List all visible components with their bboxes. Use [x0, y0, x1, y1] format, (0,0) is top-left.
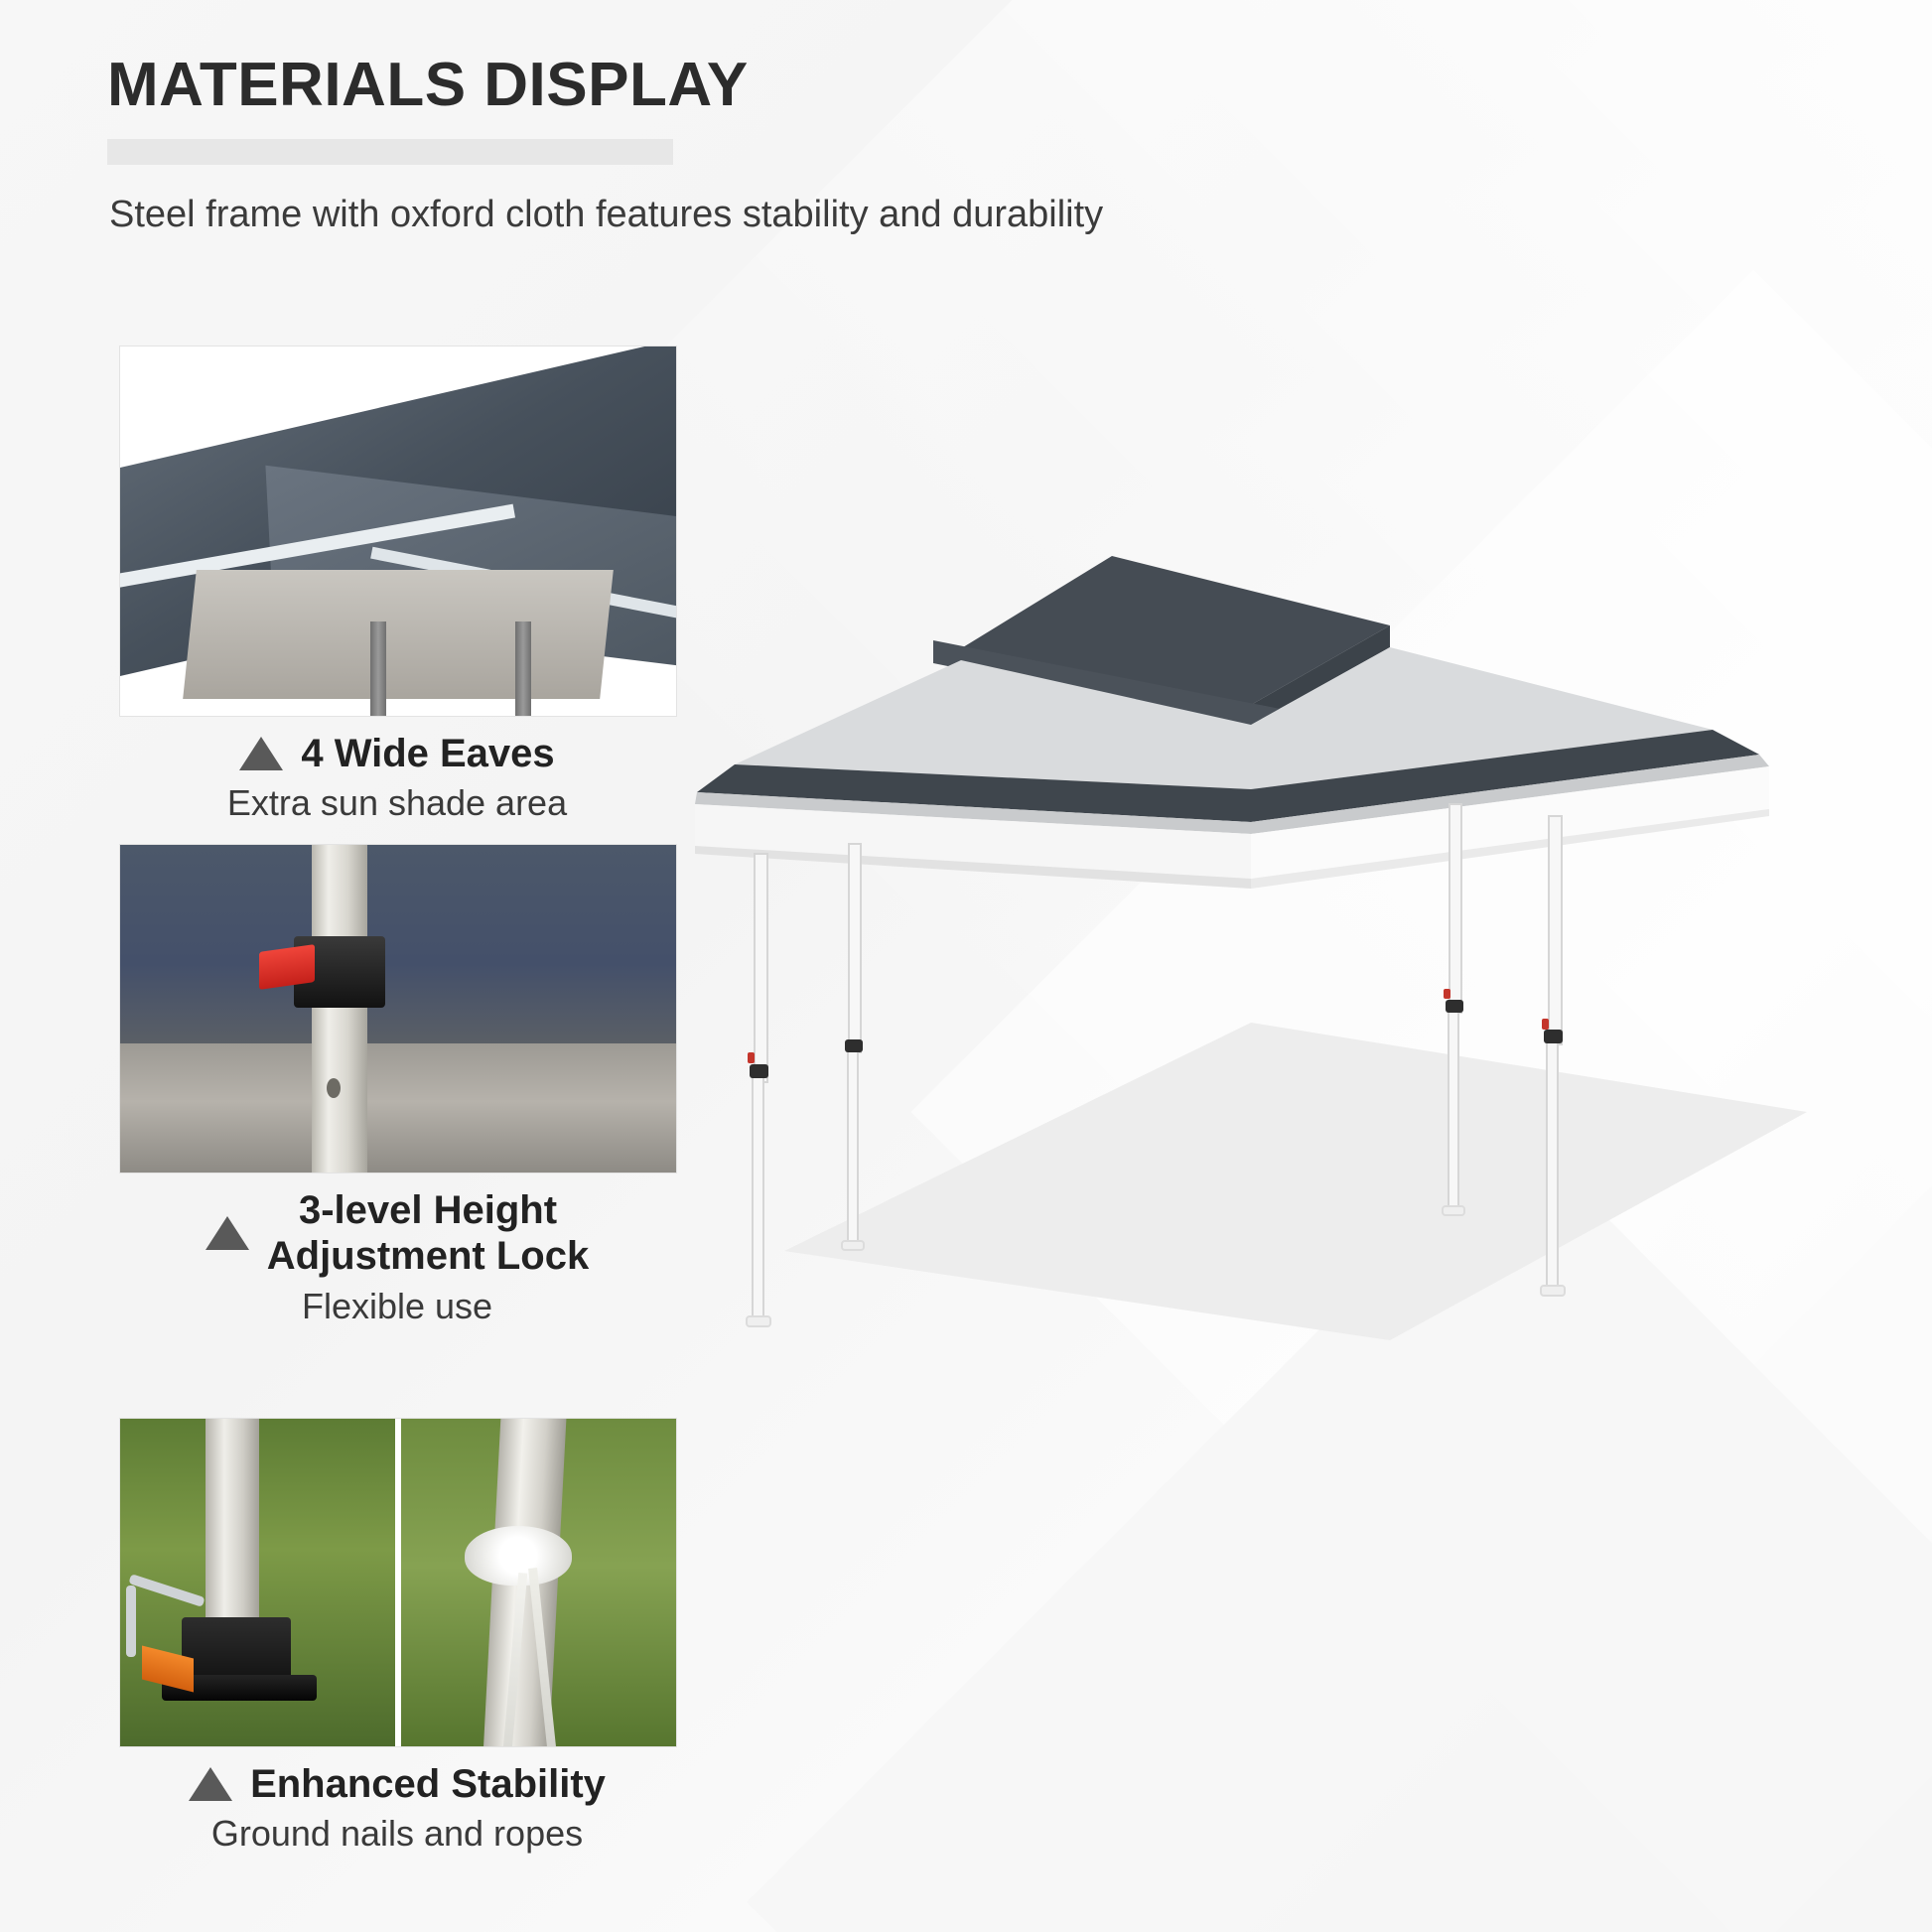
leg-front-right [1549, 816, 1562, 1044]
feature-title-height-lock: 3-level Height Adjustment Lock [267, 1187, 589, 1280]
page-title: MATERIALS DISPLAY [107, 50, 749, 120]
foot-back-right [1443, 1206, 1464, 1215]
feature-image-height-lock [119, 844, 677, 1173]
lock-button-front-right [1542, 1019, 1549, 1030]
leg-back-left [849, 844, 861, 1052]
triangle-marker-icon [239, 737, 283, 770]
caption-row-enhanced-stability: Enhanced Stability [119, 1761, 675, 1807]
feature-image-enhanced-stability [119, 1418, 677, 1747]
feature-title-enhanced-stability: Enhanced Stability [250, 1761, 606, 1807]
feature-description-enhanced-stability: Ground nails and ropes [119, 1813, 675, 1855]
canopy-underside [183, 570, 614, 699]
stability-photo-left [120, 1419, 395, 1746]
collar-front-right [1544, 1030, 1563, 1043]
collar-back-right [1446, 1000, 1463, 1013]
lock-button-back-right [1444, 989, 1450, 999]
foot-back-left [842, 1241, 864, 1250]
ground-nail-shaft [126, 1586, 136, 1657]
foot-front-right [1541, 1286, 1565, 1296]
feature-title-line2: Adjustment Lock [267, 1233, 589, 1279]
lock-button-front-left [748, 1052, 755, 1063]
photo-background-ground [120, 1043, 676, 1173]
leg-back-right [1449, 804, 1461, 1013]
feature-title-wide-eaves: 4 Wide Eaves [301, 731, 554, 776]
canopy-leg-left [370, 621, 386, 716]
feature-description-height-lock: Flexible use [119, 1286, 675, 1327]
triangle-marker-icon [189, 1767, 232, 1801]
pole-adjustment-hole [327, 1078, 341, 1098]
leg-back-right-lower [1449, 1008, 1458, 1211]
foot-front-left [747, 1316, 770, 1326]
leg-front-left-lower [753, 1072, 763, 1320]
photo-background-wall [120, 845, 676, 1043]
leg-back-left-lower [848, 1047, 858, 1246]
caption-row-height-lock: 3-level Height Adjustment Lock [119, 1187, 675, 1280]
collar-back-left [845, 1039, 863, 1052]
stability-photo-right [401, 1419, 676, 1746]
page-subtitle: Steel frame with oxford cloth features s… [109, 194, 1103, 236]
feature-image-wide-eaves [119, 345, 677, 717]
product-illustration-gazebo [695, 556, 1866, 1380]
materials-display-page: MATERIALS DISPLAY Steel frame with oxfor… [0, 0, 1932, 1932]
leg-front-left [755, 854, 767, 1082]
leg-front-right-lower [1547, 1037, 1558, 1291]
feature-title-line1: 3-level Height [267, 1187, 589, 1233]
triangle-marker-icon [206, 1216, 249, 1250]
feature-description-wide-eaves: Extra sun shade area [119, 782, 675, 824]
caption-row-wide-eaves: 4 Wide Eaves [119, 731, 675, 776]
steel-pole [312, 845, 367, 1173]
title-highlight-bar [107, 139, 673, 165]
collar-front-left [750, 1064, 768, 1078]
red-lock-lever [259, 944, 315, 990]
feature-wide-eaves: 4 Wide Eaves Extra sun shade area [119, 345, 675, 824]
feature-enhanced-stability: Enhanced Stability Ground nails and rope… [119, 1418, 675, 1855]
canopy-leg-right [515, 621, 531, 716]
feature-height-lock: 3-level Height Adjustment Lock Flexible … [119, 844, 675, 1327]
ground-shadow [784, 1023, 1807, 1340]
